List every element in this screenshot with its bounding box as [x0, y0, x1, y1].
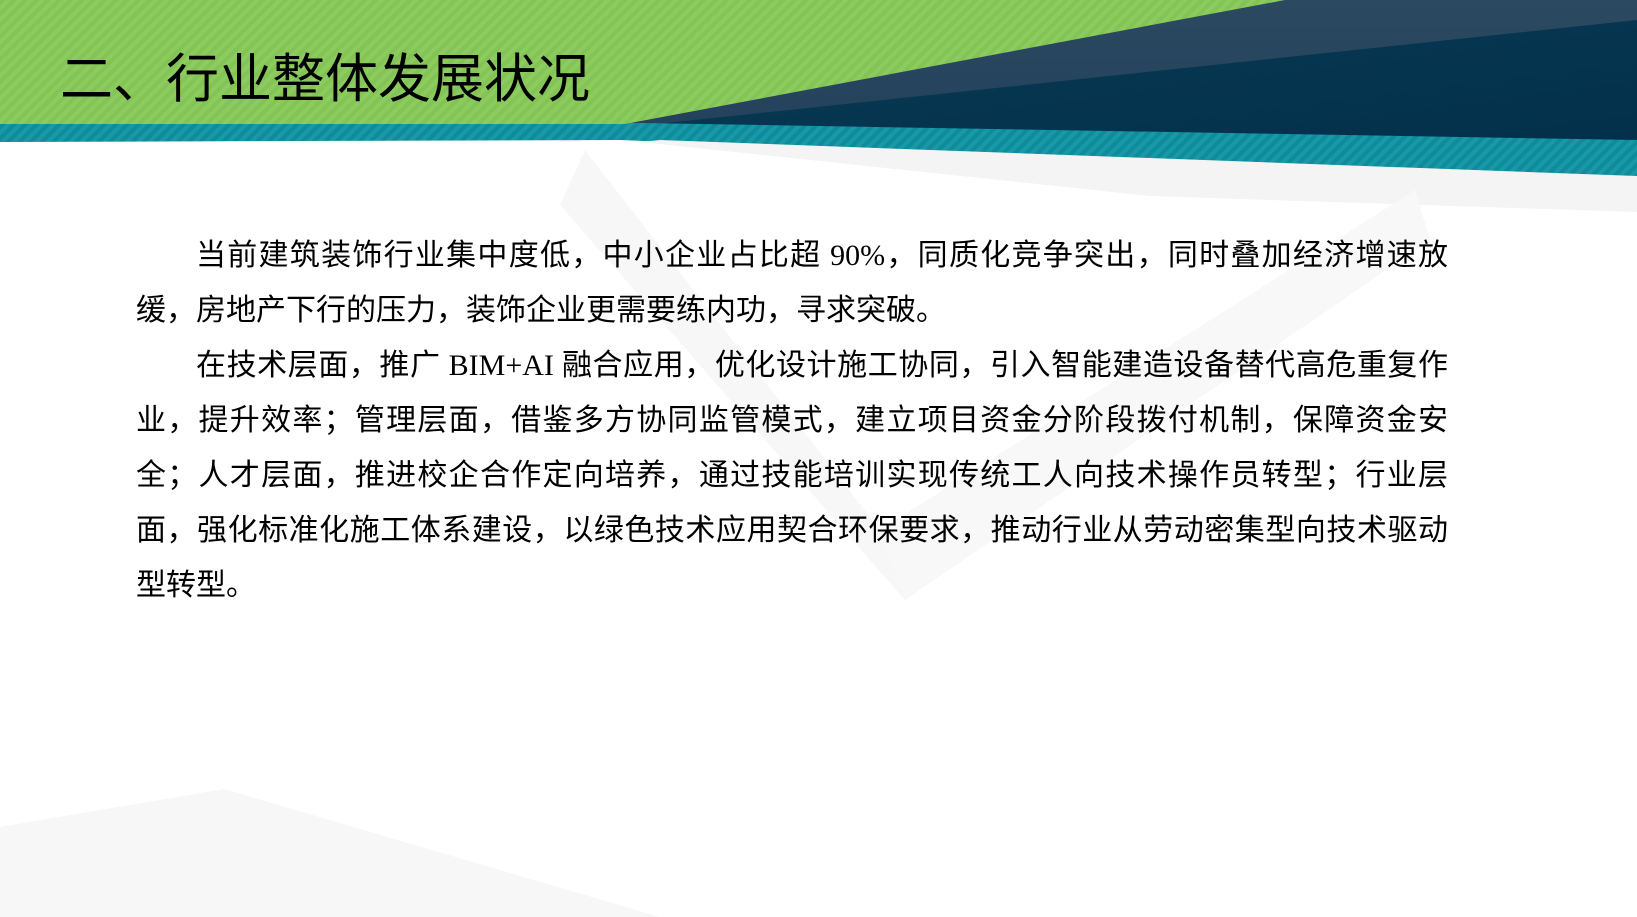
gray-shadow-band — [560, 120, 1637, 210]
body-paragraph-1: 当前建筑装饰行业集中度低，中小企业占比超 90%，同质化竞争突出，同时叠加经济增… — [136, 228, 1448, 338]
body-paragraph-2: 在技术层面，推广 BIM+AI 融合应用，优化设计施工协同，引入智能建造设备替代… — [136, 338, 1448, 613]
slide-title-bar: 二、行业整体发展状况 — [60, 44, 960, 116]
teal-underline-left — [0, 124, 1637, 182]
gray-sliver — [640, 140, 1637, 212]
presentation-slide: 二、行业整体发展状况 当前建筑装饰行业集中度低，中小企业占比超 90%，同质化竞… — [0, 0, 1637, 917]
bottom-left-chevron-watermark-overlay — [0, 789, 660, 917]
page-title: 二、行业整体发展状况 — [60, 52, 590, 108]
teal-underline-right — [560, 122, 1637, 182]
bottom-left-chevron-watermark — [0, 787, 640, 917]
slide-body-text: 当前建筑装饰行业集中度低，中小企业占比超 90%，同质化竞争突出，同时叠加经济增… — [136, 228, 1448, 613]
